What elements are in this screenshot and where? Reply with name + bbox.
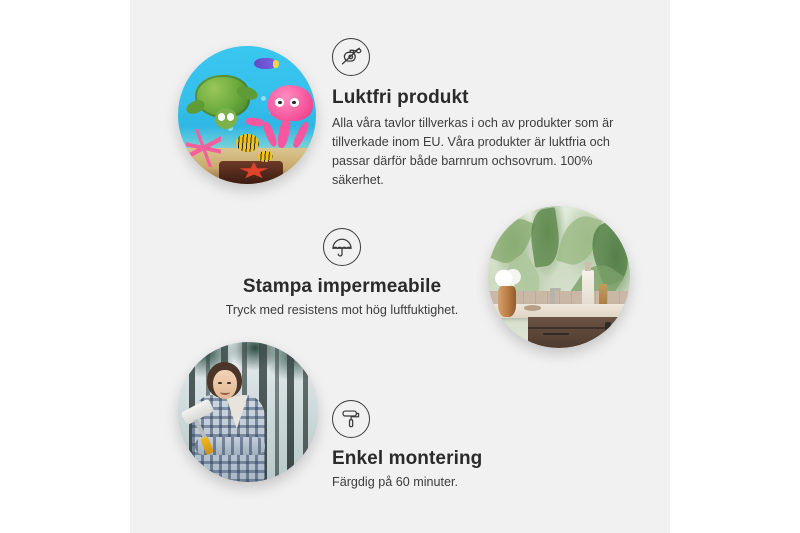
tree-trunk [303, 342, 308, 482]
cabinet-handle [543, 333, 569, 335]
tree-trunk [275, 342, 279, 482]
bathroom-scene-art [488, 206, 630, 348]
umbrella-icon [323, 228, 361, 266]
underwater-cartoon-wallpaper-photo [178, 46, 316, 184]
bathroom-tropical-wallpaper-photo [488, 206, 630, 348]
soap-bottle [582, 270, 595, 307]
woman-face [213, 370, 237, 399]
octopus-eye [290, 98, 299, 106]
feature-description: Färgdig på 60 minuter. [332, 473, 592, 492]
no-scent-perfume-bottle-icon [332, 38, 370, 76]
feature-title: Enkel montering [332, 448, 592, 470]
underwater-scene-art [178, 46, 316, 184]
tree-canopy [178, 342, 318, 401]
soap-dish [524, 305, 541, 311]
feature-title: Stampa impermeabile [216, 276, 468, 298]
octopus-head [268, 85, 314, 121]
yellow-fish-icon [258, 151, 273, 162]
wooden-cabinet [528, 317, 630, 348]
product-feature-infographic: Luktfri produkt Alla våra tavlor tillver… [0, 0, 800, 533]
woman-smile [220, 389, 230, 395]
sea-turtle-head [215, 108, 237, 129]
pink-coral [186, 129, 221, 168]
feature-description: Tryck med resistens mot hög luftfuktighe… [216, 301, 468, 320]
feature-assembly: Enkel montering Färgdig på 60 minuter. [332, 400, 592, 492]
feature-title: Luktfri produkt [332, 87, 632, 109]
paint-roller-icon [332, 400, 370, 438]
feature-odourless: Luktfri produkt Alla våra tavlor tillver… [332, 38, 632, 190]
cabinet-seam [528, 327, 630, 329]
octopus-eye [275, 98, 284, 106]
woman-eye [218, 382, 221, 384]
feature-waterproof: Stampa impermeabile Tryck med resistens … [216, 228, 468, 320]
woman-with-paint-roller-photo [178, 342, 318, 482]
forest-wallpaper-scene-art [178, 342, 318, 482]
copper-vase [498, 286, 516, 317]
tree-trunk [287, 342, 294, 482]
woman-eye [227, 382, 230, 384]
blue-fish-icon [254, 58, 275, 69]
cabinet-handle [605, 322, 610, 340]
feature-description: Alla våra tavlor tillverkas i och av pro… [332, 114, 632, 190]
